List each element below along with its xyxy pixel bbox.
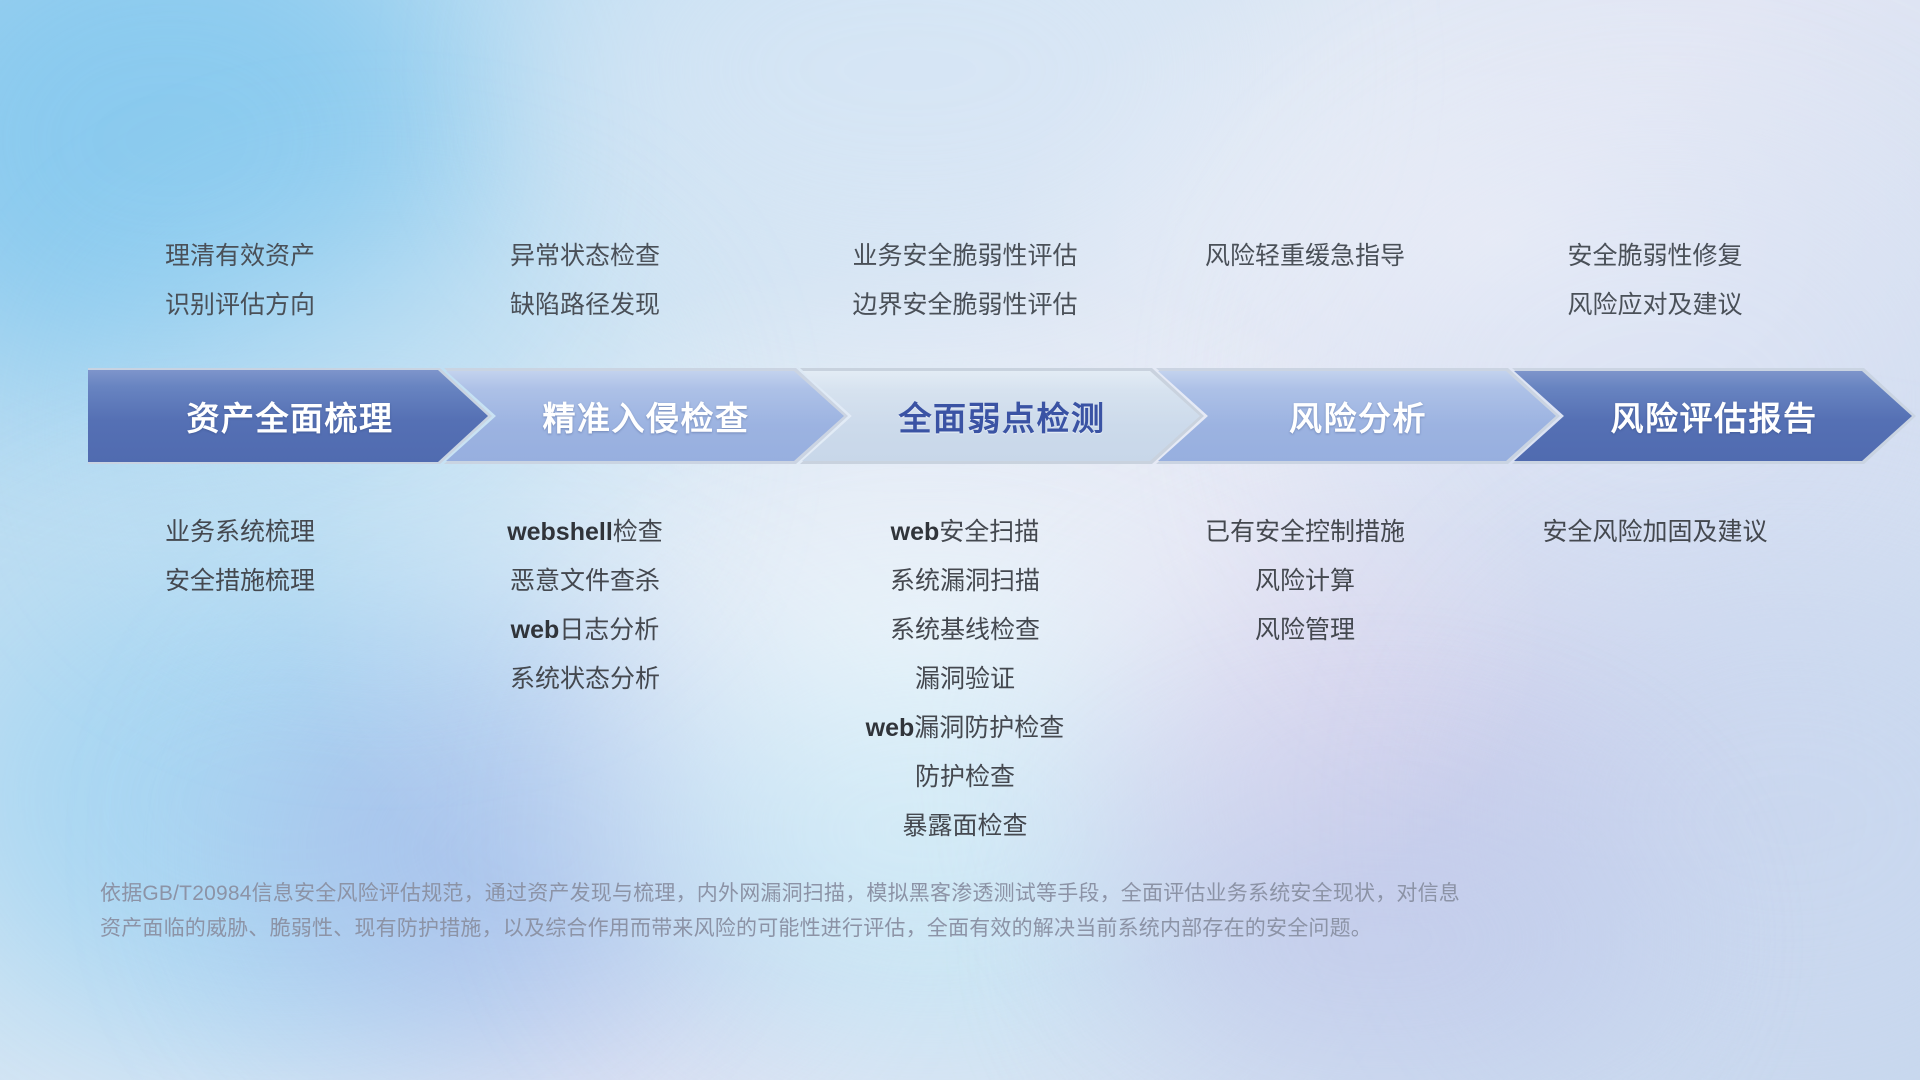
input-list: 理清有效资产 识别评估方向: [40, 232, 440, 330]
stage-outputs-intrusion-check: webshell检查 恶意文件查杀 web日志分析 系统状态分析: [395, 508, 775, 704]
output-item: web漏洞防护检查: [750, 704, 1180, 753]
stage-label: 风险分析: [1289, 392, 1427, 440]
output-item-rest: 检查: [613, 518, 663, 546]
output-item-emphasis: web: [866, 714, 915, 742]
stage-inputs-risk-report: 安全脆弱性修复 风险应对及建议: [1445, 232, 1865, 330]
stage-label: 全面弱点检测: [899, 392, 1106, 440]
process-stage-asset-inventory[interactable]: 资产全面梳理: [88, 366, 492, 466]
slide-canvas: 理清有效资产 识别评估方向 异常状态检查 缺陷路径发现 业务安全脆弱性评估 边界…: [0, 0, 1920, 1080]
stage-label: 精准入侵检查: [543, 392, 750, 440]
process-stage-risk-report[interactable]: 风险评估报告: [1512, 366, 1916, 466]
input-item: 异常状态检查: [395, 232, 775, 281]
stage-label: 风险评估报告: [1611, 392, 1818, 440]
input-list: 异常状态检查 缺陷路径发现: [395, 232, 775, 330]
output-item: 安全风险加固及建议: [1445, 508, 1865, 557]
footer-line: 依据GB/T20984信息安全风险评估规范，通过资产发现与梳理，内外网漏洞扫描，…: [100, 876, 1620, 911]
output-item: 漏洞验证: [750, 655, 1180, 704]
stage-outputs-asset-inventory: 业务系统梳理 安全措施梳理: [40, 508, 440, 606]
output-item: 业务系统梳理: [40, 508, 440, 557]
process-stage-intrusion-check[interactable]: 精准入侵检查: [444, 366, 848, 466]
stage-outputs-risk-report: 安全风险加固及建议: [1445, 508, 1865, 557]
output-list: webshell检查 恶意文件查杀 web日志分析 系统状态分析: [395, 508, 775, 704]
output-item: 系统状态分析: [395, 655, 775, 704]
output-item: 防护检查: [750, 753, 1180, 802]
output-item: 暴露面检查: [750, 802, 1180, 851]
input-item: 安全脆弱性修复: [1445, 232, 1865, 281]
input-list: 安全脆弱性修复 风险应对及建议: [1445, 232, 1865, 330]
input-item: 识别评估方向: [40, 281, 440, 330]
stage-inputs-asset-inventory: 理清有效资产 识别评估方向: [40, 232, 440, 330]
output-item: 风险计算: [1095, 557, 1515, 606]
stage-label: 资产全面梳理: [187, 392, 394, 440]
output-item-emphasis: web: [511, 616, 560, 644]
process-flow-banner: 资产全面梳理: [88, 366, 1846, 466]
stage-inputs-intrusion-check: 异常状态检查 缺陷路径发现: [395, 232, 775, 330]
input-item: 风险应对及建议: [1445, 281, 1865, 330]
output-item: 风险管理: [1095, 606, 1515, 655]
output-item: webshell检查: [395, 508, 775, 557]
process-stage-risk-analysis[interactable]: 风险分析: [1156, 366, 1560, 466]
process-stage-weakness-detection[interactable]: 全面弱点检测: [800, 366, 1204, 466]
output-item-rest: 安全扫描: [939, 518, 1039, 546]
output-list: 安全风险加固及建议: [1445, 508, 1865, 557]
output-item-rest: 漏洞防护检查: [914, 714, 1064, 742]
footer-description: 依据GB/T20984信息安全风险评估规范，通过资产发现与梳理，内外网漏洞扫描，…: [100, 876, 1620, 946]
footer-line: 资产面临的威胁、脆弱性、现有防护措施，以及综合作用而带来风险的可能性进行评估，全…: [100, 911, 1620, 946]
output-list: 业务系统梳理 安全措施梳理: [40, 508, 440, 606]
output-item: 安全措施梳理: [40, 557, 440, 606]
output-item: 恶意文件查杀: [395, 557, 775, 606]
input-item: 缺陷路径发现: [395, 281, 775, 330]
input-item: 理清有效资产: [40, 232, 440, 281]
output-item-emphasis: web: [891, 518, 940, 546]
output-item-emphasis: webshell: [507, 518, 613, 546]
input-item: 边界安全脆弱性评估: [750, 281, 1180, 330]
output-item: web日志分析: [395, 606, 775, 655]
output-item-rest: 日志分析: [559, 616, 659, 644]
